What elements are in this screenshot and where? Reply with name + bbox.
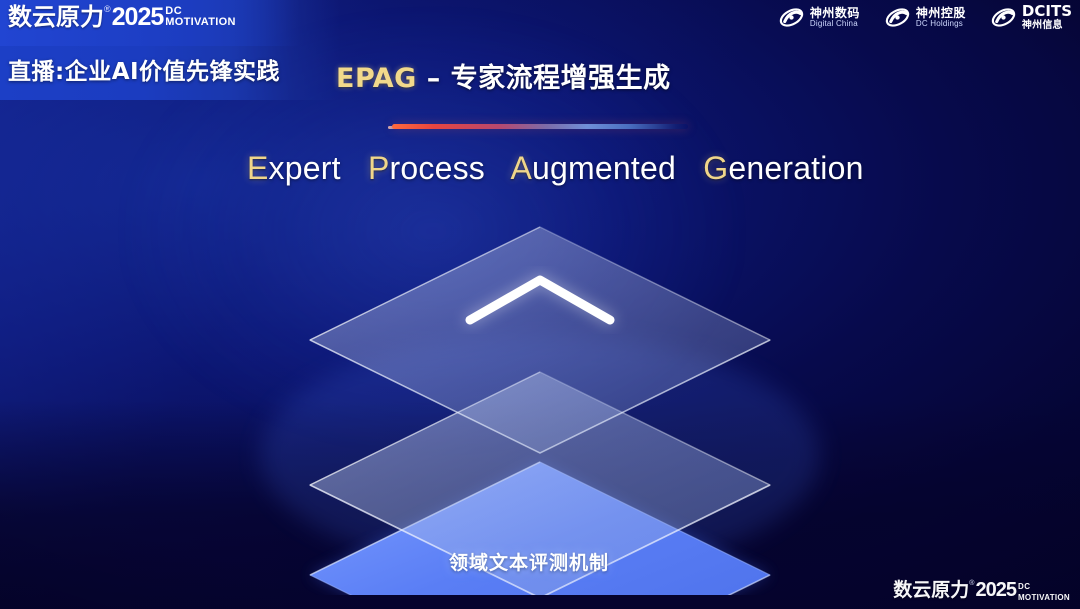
partner-logo-dc-holdings: 神州控股 DC Holdings <box>884 4 966 31</box>
page-title-dash: – <box>417 63 451 94</box>
partner-logo-dcits: DCITS 神州信息 <box>990 4 1072 31</box>
layered-diagram: 领域文本评测机制 Dynamic MOE 长文本记忆 三类语义建模模块 <box>0 215 1080 595</box>
live-session-label: 直播:企业AI价值先锋实践 <box>8 52 280 86</box>
subtitle-word-generation: Generation <box>703 150 863 186</box>
partner-logo-row: 神州数码 Digital China 神州控股 DC Holdings <box>778 4 1072 31</box>
partner-name-cn: 神州数码 <box>810 7 860 20</box>
partner-logo-text: 神州数码 Digital China <box>810 7 860 29</box>
subtitle-word-process: Process <box>368 150 485 186</box>
page-title-chinese: 专家流程增强生成 <box>451 63 671 94</box>
event-logo-dc: DC <box>165 6 235 16</box>
slide-canvas: 数云原力 ® 2025 DC MOTIVATION 直播:企业AI价值先锋实践 … <box>0 0 1080 609</box>
partner-name-cn: DCITS <box>1022 4 1072 20</box>
event-logo-registered: ® <box>104 4 111 14</box>
subtitle-space <box>494 150 503 186</box>
partner-name-en: Digital China <box>810 20 860 28</box>
page-title: EPAG – 专家流程增强生成 <box>336 56 671 95</box>
partner-name-en: 神州信息 <box>1022 21 1072 32</box>
subtitle-space <box>685 150 694 186</box>
partner-name-cn: 神州控股 <box>916 7 966 20</box>
watermark-motivation: MOTIVATION <box>1018 593 1070 603</box>
event-logo-cn: 数云原力 <box>8 4 104 30</box>
watermark-registered: ® <box>969 580 974 587</box>
partner-logo-text: DCITS 神州信息 <box>1022 4 1072 31</box>
title-divider <box>392 124 688 129</box>
partner-logo-text: 神州控股 DC Holdings <box>916 7 966 29</box>
layer-stack-graphic <box>0 215 1080 595</box>
page-subtitle: Expert Process Augmented Generation <box>247 150 864 187</box>
watermark-dc: DC <box>1018 582 1070 592</box>
partner-logo-digital-china: 神州数码 Digital China <box>778 4 860 31</box>
partner-name-en: DC Holdings <box>916 20 966 28</box>
subtitle-word-augmented: Augmented <box>510 150 675 186</box>
swirl-logo-icon <box>778 4 805 31</box>
subtitle-space <box>350 150 359 186</box>
swirl-logo-icon <box>884 4 911 31</box>
watermark-dc-motivation: DC MOTIVATION <box>1018 580 1070 603</box>
page-title-acronym: EPAG <box>336 63 417 94</box>
subtitle-word-expert: Expert <box>247 150 341 186</box>
event-logo: 数云原力 ® 2025 DC MOTIVATION <box>8 4 236 30</box>
event-logo-year: 2025 <box>112 4 164 30</box>
watermark-cn: 数云原力 <box>893 580 969 601</box>
event-logo-motivation: MOTIVATION <box>165 17 235 27</box>
layer-label-top: 领域文本评测机制 <box>449 548 609 575</box>
event-logo-dc-motivation: DC MOTIVATION <box>165 4 235 27</box>
swirl-logo-icon <box>990 4 1017 31</box>
watermark-year: 2025 <box>975 580 1016 601</box>
footer-watermark-logo: 数云原力 ® 2025 DC MOTIVATION <box>893 580 1070 603</box>
